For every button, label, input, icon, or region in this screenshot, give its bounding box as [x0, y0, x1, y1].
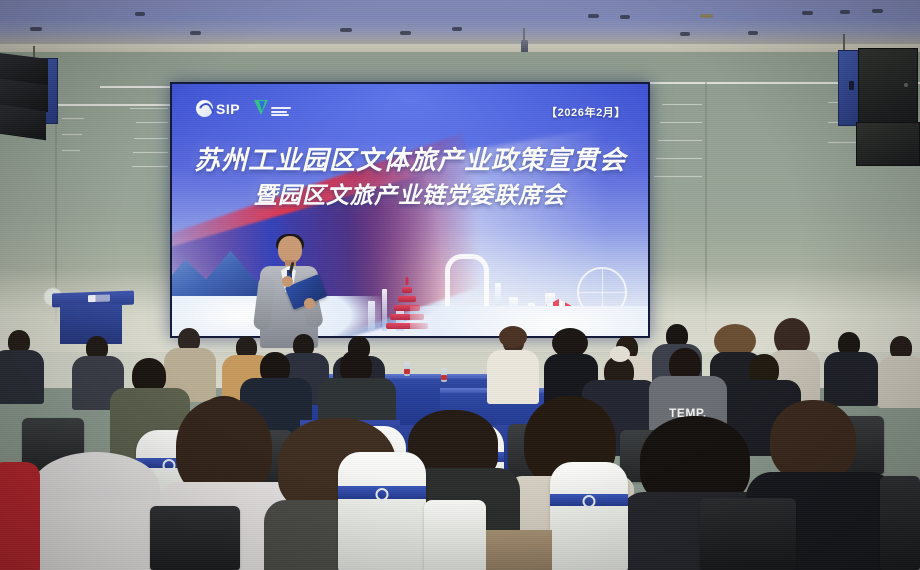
wall-panel-line — [62, 150, 80, 151]
logo-wordmark-lines — [271, 107, 291, 116]
presenter — [258, 236, 320, 348]
ceiling-light — [872, 9, 883, 13]
screen-title-block: 苏州工业园区文体旅产业政策宣贯会 暨园区文旅产业链党委联席会 — [172, 146, 648, 209]
water-bottle — [441, 368, 447, 382]
sip-logo-text: SIP — [216, 101, 240, 117]
chair-cover — [550, 462, 628, 570]
sip-mark-icon — [196, 100, 213, 117]
ceiling-light — [748, 31, 758, 35]
wall-panel-line — [662, 104, 702, 105]
floor — [486, 530, 552, 570]
wall-panel-line — [134, 138, 168, 139]
snow-foreground — [410, 306, 648, 336]
ceiling-light — [840, 10, 850, 14]
ceiling-light — [135, 12, 145, 16]
ceiling-light — [620, 15, 630, 19]
person-torso — [878, 356, 920, 408]
screen-title-line-2: 暨园区文旅产业链党委联席会 — [172, 182, 648, 210]
presenter-head — [278, 236, 302, 263]
wall-panel-line — [656, 158, 702, 159]
led-screen-surface: SIP 【2026年2月】 苏州工业园区文体旅产业政策宣贯会 暨园区文旅产业链党… — [172, 84, 648, 336]
wall-panel-line — [132, 166, 168, 167]
chair-sash — [550, 494, 628, 506]
person-torso — [0, 350, 44, 404]
cultural-tourism-logo — [254, 100, 291, 117]
person-torso — [0, 462, 40, 570]
sash-ring — [583, 495, 596, 508]
seat-back — [150, 506, 240, 570]
chair-cover — [338, 452, 426, 570]
seat-back — [880, 476, 920, 570]
person-hair — [499, 326, 527, 348]
ceiling-light — [400, 31, 411, 35]
screen-title-line-1: 苏州工业园区文体旅产业政策宣贯会 — [172, 146, 648, 177]
wall-panel-line — [62, 134, 82, 135]
wall-panel-line — [660, 122, 702, 123]
podium-logo-icon — [88, 294, 110, 302]
wall-panel-line — [133, 152, 168, 153]
sip-logo: SIP — [196, 100, 240, 117]
ceiling-light — [190, 31, 201, 35]
person-hair — [770, 400, 856, 482]
ceiling-light — [340, 28, 352, 32]
date-badge: 【2026年2月】 — [546, 104, 626, 120]
ceiling-light — [680, 32, 690, 36]
ceiling-light — [802, 11, 813, 15]
led-video-wall: SIP 【2026年2月】 苏州工业园区文体旅产业政策宣贯会 暨园区文旅产业链党… — [170, 82, 650, 338]
seat-back — [700, 498, 796, 570]
person-torso — [824, 352, 878, 406]
chair-sash — [338, 486, 426, 499]
water-bottle — [404, 362, 410, 376]
chair-cover — [424, 500, 486, 570]
right-line-array-bottom — [856, 122, 920, 166]
wall-panel-line — [130, 108, 168, 109]
right-line-array-top — [858, 48, 918, 124]
person-hairbun — [610, 346, 630, 362]
presenter-hand — [304, 298, 315, 309]
v-mark-icon — [254, 100, 269, 117]
ceiling-light — [452, 27, 462, 31]
wall-panel-line — [654, 176, 702, 177]
wall-panel-line — [658, 140, 702, 141]
ceiling-light — [30, 27, 42, 31]
ceiling-light — [700, 14, 713, 18]
screen-logos: SIP — [196, 100, 291, 117]
sash-ring — [376, 488, 389, 501]
wall-panel-line — [136, 122, 168, 123]
presenter-hand — [282, 276, 293, 287]
wall-panel-line — [62, 118, 84, 119]
sash-ring — [163, 459, 176, 472]
person-torso — [487, 350, 539, 404]
conference-photo: SIP 【2026年2月】 苏州工业园区文体旅产业政策宣贯会 暨园区文旅产业链党… — [0, 0, 920, 570]
ceiling-light — [588, 14, 599, 18]
